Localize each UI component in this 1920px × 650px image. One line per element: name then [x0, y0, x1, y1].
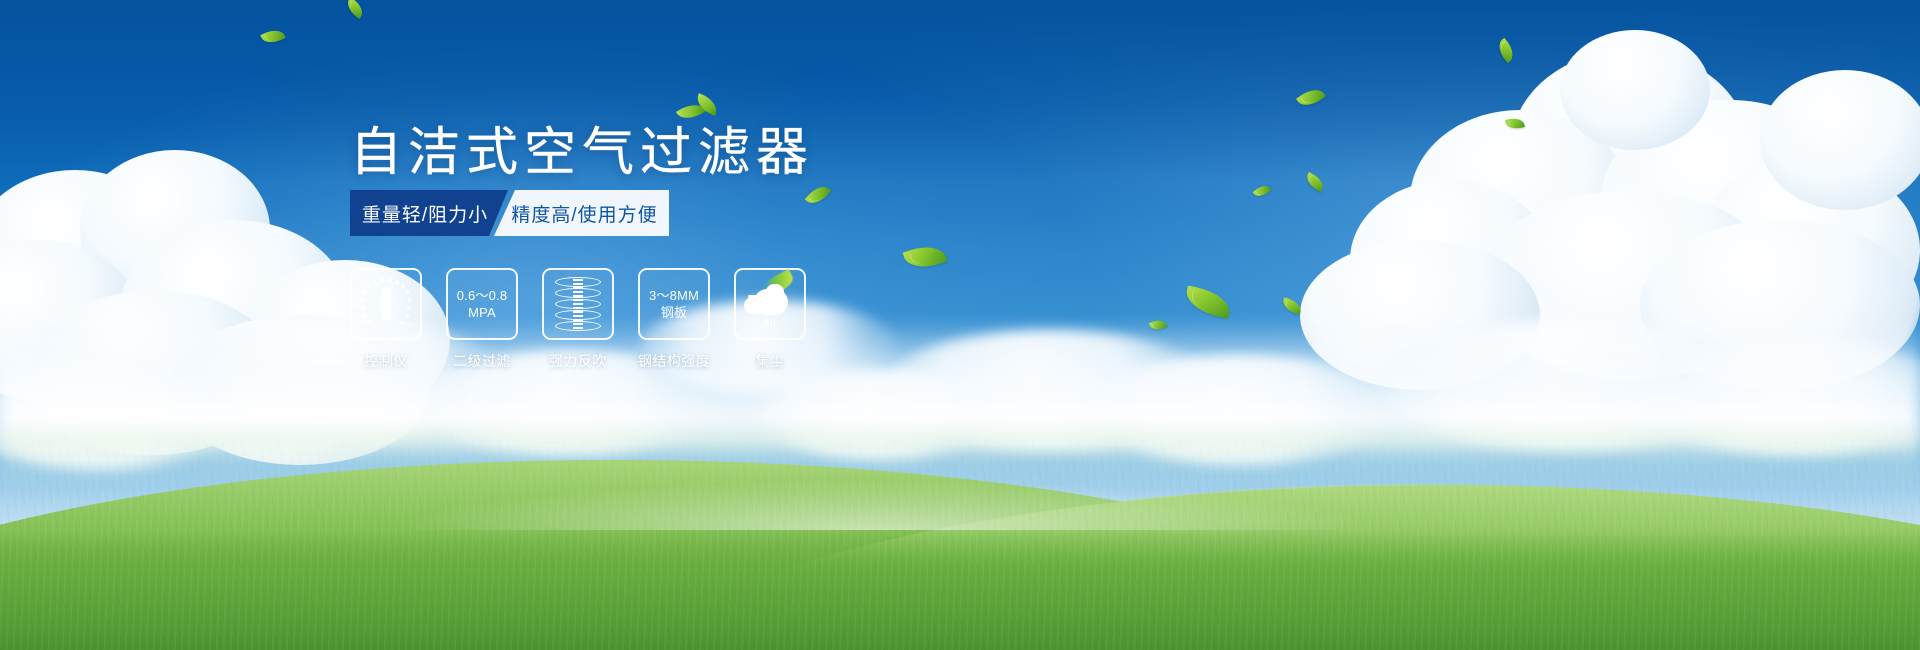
steel-plate-text-icon: 3～8MM 钢板 — [649, 287, 699, 321]
product-banner: 自洁式空气过滤器 重量轻/阻力小 精度高/使用方便 — [0, 0, 1920, 650]
steel-line-2: 钢板 — [649, 304, 699, 321]
page-title: 自洁式空气过滤器 — [350, 122, 814, 184]
air-label: Air — [742, 318, 798, 330]
banner-content: 自洁式空气过滤器 重量轻/阻力小 精度高/使用方便 — [0, 0, 1920, 650]
pressure-text-icon: 0.6～0.8 MPA — [457, 287, 508, 321]
feature-item-dust[interactable]: Air 集尘 — [734, 268, 806, 371]
feature-box-controller: NO OFF — [350, 268, 422, 340]
steel-line-1: 3～8MM — [649, 287, 699, 304]
title-leaf-icon — [678, 92, 724, 122]
feature-box-pressure: 0.6～0.8 MPA — [446, 268, 518, 340]
tab-lightweight-lowresistance[interactable]: 重量轻/阻力小 — [350, 190, 508, 236]
dial-label-on: NO — [354, 303, 363, 309]
feature-icon-row: NO OFF 控制仪 0.6～0.8 MPA 二级过滤 — [350, 268, 806, 371]
feature-label-backblow: 强力反吹 — [549, 351, 607, 371]
air-cloud-icon: Air — [742, 281, 798, 327]
feature-item-steel[interactable]: 3～8MM 钢板 钢结构强度 — [638, 268, 710, 371]
feature-label-controller: 控制仪 — [364, 351, 408, 371]
feature-item-backblow[interactable]: 强力反吹 — [542, 268, 614, 371]
feature-item-controller[interactable]: NO OFF 控制仪 — [350, 268, 422, 371]
pressure-line-2: MPA — [457, 304, 508, 321]
feature-item-filtration[interactable]: 0.6～0.8 MPA 二级过滤 — [446, 268, 518, 371]
dial-label-off: OFF — [406, 323, 418, 329]
feature-tabs: 重量轻/阻力小 精度高/使用方便 — [350, 190, 669, 236]
feature-label-steel: 钢结构强度 — [638, 351, 711, 371]
feature-box-steel: 3～8MM 钢板 — [638, 268, 710, 340]
feature-label-filtration: 二级过滤 — [453, 351, 511, 371]
feature-box-backblow — [542, 268, 614, 340]
control-dial-icon: NO OFF — [358, 276, 414, 332]
feature-box-dust: Air — [734, 268, 806, 340]
tab-highprecision-easyuse[interactable]: 精度高/使用方便 — [494, 190, 669, 236]
dial-needle — [382, 287, 391, 321]
pressure-line-1: 0.6～0.8 — [457, 287, 508, 304]
filter-coil-icon — [555, 277, 601, 331]
feature-label-dust: 集尘 — [756, 351, 785, 371]
